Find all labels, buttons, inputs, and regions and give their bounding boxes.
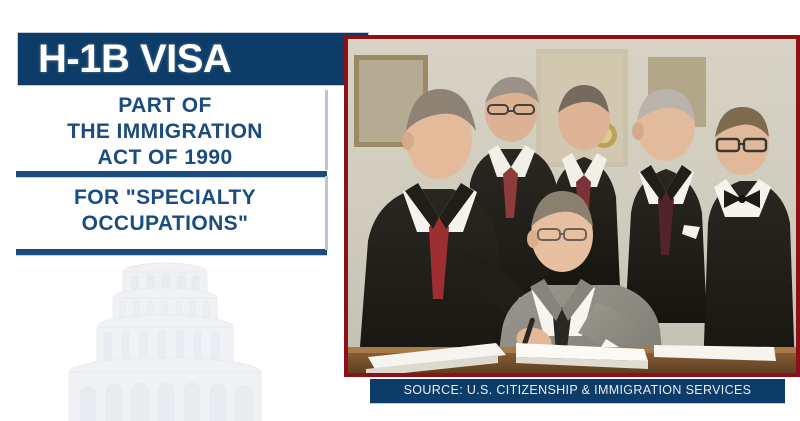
source-caption-bar: SOURCE: U.S. CITIZENSHIP & IMMIGRATION S… — [370, 379, 785, 403]
headline-bar: H-1B VISA — [18, 33, 368, 85]
vertical-rule — [325, 90, 328, 170]
subhead-line: FOR "SPECIALTY — [0, 185, 330, 211]
subhead-line: PART OF — [0, 93, 330, 119]
divider-rule — [16, 171, 327, 177]
news-lower-third-graphic: H-1B VISA PART OF THE IMMIGRATION ACT OF… — [0, 0, 800, 421]
subhead-specialty-occupations: FOR "SPECIALTY OCCUPATIONS" — [0, 185, 330, 237]
photo-frame — [344, 35, 800, 377]
source-caption-text: SOURCE: U.S. CITIZENSHIP & IMMIGRATION S… — [370, 383, 785, 397]
page-title: H-1B VISA — [38, 34, 231, 84]
bush-signing-photo — [348, 39, 796, 373]
subhead-line: THE IMMIGRATION — [0, 119, 330, 145]
divider-rule — [16, 249, 327, 255]
vertical-rule — [325, 176, 328, 250]
subhead-immigration-act: PART OF THE IMMIGRATION ACT OF 1990 — [0, 93, 330, 171]
subhead-line: OCCUPATIONS" — [0, 211, 330, 237]
subhead-line: ACT OF 1990 — [0, 145, 330, 171]
us-capitol-dome-watermark — [10, 258, 320, 421]
